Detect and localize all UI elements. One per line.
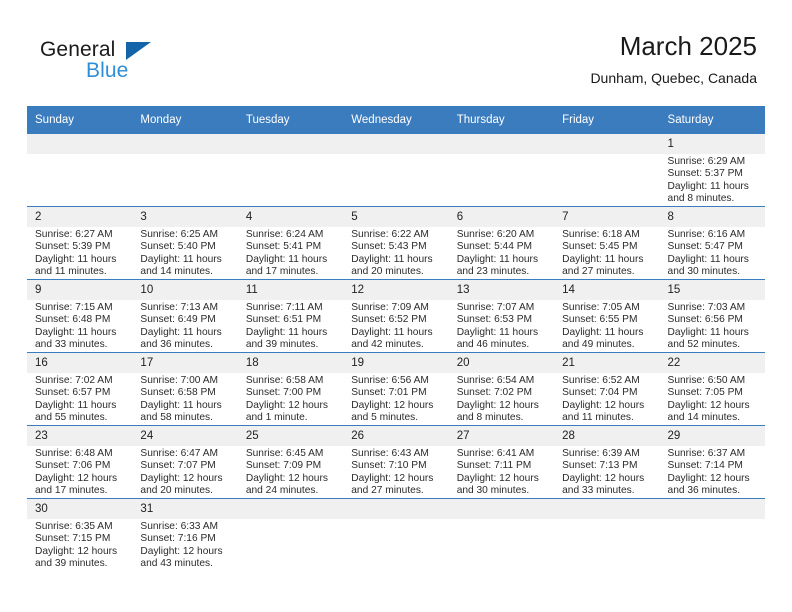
daylight-text-line2: and 24 minutes. (246, 485, 336, 497)
cell-inner: 12Sunrise: 7:09 AMSunset: 6:52 PMDayligh… (343, 280, 448, 352)
cell-inner (343, 134, 448, 206)
sunrise-text: Sunrise: 6:35 AM (35, 521, 125, 533)
sun-info: Sunrise: 7:09 AMSunset: 6:52 PMDaylight:… (343, 300, 448, 352)
calendar-day-cell[interactable]: 11Sunrise: 7:11 AMSunset: 6:51 PMDayligh… (238, 280, 343, 353)
cell-inner: 4Sunrise: 6:24 AMSunset: 5:41 PMDaylight… (238, 207, 343, 279)
sunset-text: Sunset: 7:14 PM (668, 460, 758, 472)
calendar-day-cell[interactable]: 10Sunrise: 7:13 AMSunset: 6:49 PMDayligh… (132, 280, 237, 353)
day-number (238, 499, 343, 519)
sunrise-text: Sunrise: 6:45 AM (246, 448, 336, 460)
sunrise-text: Sunrise: 6:16 AM (668, 229, 758, 241)
daylight-text-line2: and 30 minutes. (457, 485, 547, 497)
cell-inner: 2Sunrise: 6:27 AMSunset: 5:39 PMDaylight… (27, 207, 132, 279)
sunrise-sunset-calendar: Sunday Monday Tuesday Wednesday Thursday… (27, 106, 765, 571)
cell-inner: 3Sunrise: 6:25 AMSunset: 5:40 PMDaylight… (132, 207, 237, 279)
calendar-day-cell[interactable]: 17Sunrise: 7:00 AMSunset: 6:58 PMDayligh… (132, 353, 237, 426)
sunrise-text: Sunrise: 7:09 AM (351, 302, 441, 314)
calendar-week-row: 23Sunrise: 6:48 AMSunset: 7:06 PMDayligh… (27, 426, 765, 499)
daylight-text-line2: and 17 minutes. (35, 485, 125, 497)
calendar-day-cell[interactable]: 31Sunrise: 6:33 AMSunset: 7:16 PMDayligh… (132, 499, 237, 572)
calendar-day-cell[interactable]: 22Sunrise: 6:50 AMSunset: 7:05 PMDayligh… (660, 353, 765, 426)
sun-info: Sunrise: 7:15 AMSunset: 6:48 PMDaylight:… (27, 300, 132, 352)
daylight-text-line1: Daylight: 11 hours (140, 400, 230, 412)
calendar-day-cell[interactable]: 27Sunrise: 6:41 AMSunset: 7:11 PMDayligh… (449, 426, 554, 499)
calendar-cell-empty (132, 134, 237, 207)
calendar-cell-empty (27, 134, 132, 207)
sunrise-text: Sunrise: 6:48 AM (35, 448, 125, 460)
daylight-text-line1: Daylight: 12 hours (351, 473, 441, 485)
calendar-day-cell[interactable]: 15Sunrise: 7:03 AMSunset: 6:56 PMDayligh… (660, 280, 765, 353)
sunrise-text: Sunrise: 7:03 AM (668, 302, 758, 314)
cell-inner: 6Sunrise: 6:20 AMSunset: 5:44 PMDaylight… (449, 207, 554, 279)
day-number: 20 (449, 353, 554, 373)
page-subtitle: Dunham, Quebec, Canada (590, 68, 757, 88)
daylight-text-line2: and 11 minutes. (562, 412, 652, 424)
weekday-header-wednesday: Wednesday (343, 106, 448, 134)
day-number: 11 (238, 280, 343, 300)
daylight-text-line2: and 33 minutes. (562, 485, 652, 497)
daylight-text-line2: and 20 minutes. (140, 485, 230, 497)
sun-info: Sunrise: 6:16 AMSunset: 5:47 PMDaylight:… (660, 227, 765, 279)
daylight-text-line1: Daylight: 11 hours (351, 254, 441, 266)
sun-info: Sunrise: 7:07 AMSunset: 6:53 PMDaylight:… (449, 300, 554, 352)
sunrise-text: Sunrise: 6:39 AM (562, 448, 652, 460)
cell-inner: 7Sunrise: 6:18 AMSunset: 5:45 PMDaylight… (554, 207, 659, 279)
day-number (132, 134, 237, 154)
sun-info: Sunrise: 6:45 AMSunset: 7:09 PMDaylight:… (238, 446, 343, 498)
cell-inner: 19Sunrise: 6:56 AMSunset: 7:01 PMDayligh… (343, 353, 448, 425)
daylight-text-line2: and 27 minutes. (562, 266, 652, 278)
sunset-text: Sunset: 7:13 PM (562, 460, 652, 472)
daylight-text-line2: and 23 minutes. (457, 266, 547, 278)
daylight-text-line2: and 39 minutes. (246, 339, 336, 351)
sunrise-text: Sunrise: 7:13 AM (140, 302, 230, 314)
daylight-text-line1: Daylight: 12 hours (35, 546, 125, 558)
cell-inner (238, 499, 343, 571)
cell-inner (449, 134, 554, 206)
day-number: 24 (132, 426, 237, 446)
cell-inner (132, 134, 237, 206)
daylight-text-line2: and 33 minutes. (35, 339, 125, 351)
day-number: 9 (27, 280, 132, 300)
cell-inner: 5Sunrise: 6:22 AMSunset: 5:43 PMDaylight… (343, 207, 448, 279)
daylight-text-line1: Daylight: 11 hours (668, 327, 758, 339)
daylight-text-line2: and 27 minutes. (351, 485, 441, 497)
sunset-text: Sunset: 5:40 PM (140, 241, 230, 253)
daylight-text-line2: and 42 minutes. (351, 339, 441, 351)
sunset-text: Sunset: 7:00 PM (246, 387, 336, 399)
cell-inner (554, 499, 659, 571)
calendar-week-row: 9Sunrise: 7:15 AMSunset: 6:48 PMDaylight… (27, 280, 765, 353)
daylight-text-line2: and 30 minutes. (668, 266, 758, 278)
day-number: 26 (343, 426, 448, 446)
daylight-text-line1: Daylight: 11 hours (35, 327, 125, 339)
sun-info: Sunrise: 6:39 AMSunset: 7:13 PMDaylight:… (554, 446, 659, 498)
day-number: 23 (27, 426, 132, 446)
day-number: 1 (660, 134, 765, 154)
daylight-text-line2: and 49 minutes. (562, 339, 652, 351)
sunrise-text: Sunrise: 7:07 AM (457, 302, 547, 314)
cell-inner: 10Sunrise: 7:13 AMSunset: 6:49 PMDayligh… (132, 280, 237, 352)
sunrise-text: Sunrise: 6:43 AM (351, 448, 441, 460)
daylight-text-line1: Daylight: 12 hours (35, 473, 125, 485)
sun-info: Sunrise: 6:50 AMSunset: 7:05 PMDaylight:… (660, 373, 765, 425)
calendar-cell-empty (449, 499, 554, 572)
day-number: 29 (660, 426, 765, 446)
sun-info: Sunrise: 6:54 AMSunset: 7:02 PMDaylight:… (449, 373, 554, 425)
day-number: 19 (343, 353, 448, 373)
cell-inner (238, 134, 343, 206)
page-title: March 2025 (590, 30, 757, 62)
calendar-week-row: 16Sunrise: 7:02 AMSunset: 6:57 PMDayligh… (27, 353, 765, 426)
daylight-text-line2: and 1 minute. (246, 412, 336, 424)
sunset-text: Sunset: 5:39 PM (35, 241, 125, 253)
calendar-day-cell[interactable]: 2Sunrise: 6:27 AMSunset: 5:39 PMDaylight… (27, 207, 132, 280)
daylight-text-line2: and 39 minutes. (35, 558, 125, 570)
cell-inner: 28Sunrise: 6:39 AMSunset: 7:13 PMDayligh… (554, 426, 659, 498)
cell-inner: 22Sunrise: 6:50 AMSunset: 7:05 PMDayligh… (660, 353, 765, 425)
day-number: 16 (27, 353, 132, 373)
sunset-text: Sunset: 6:53 PM (457, 314, 547, 326)
sun-info: Sunrise: 7:13 AMSunset: 6:49 PMDaylight:… (132, 300, 237, 352)
sun-info: Sunrise: 6:24 AMSunset: 5:41 PMDaylight:… (238, 227, 343, 279)
sunset-text: Sunset: 7:07 PM (140, 460, 230, 472)
sunset-text: Sunset: 7:16 PM (140, 533, 230, 545)
day-number: 27 (449, 426, 554, 446)
sunset-text: Sunset: 6:48 PM (35, 314, 125, 326)
daylight-text-line1: Daylight: 11 hours (562, 254, 652, 266)
sunset-text: Sunset: 5:45 PM (562, 241, 652, 253)
day-number (554, 134, 659, 154)
day-number: 28 (554, 426, 659, 446)
daylight-text-line1: Daylight: 11 hours (140, 254, 230, 266)
day-number: 13 (449, 280, 554, 300)
daylight-text-line2: and 17 minutes. (246, 266, 336, 278)
cell-inner: 24Sunrise: 6:47 AMSunset: 7:07 PMDayligh… (132, 426, 237, 498)
sun-info: Sunrise: 6:22 AMSunset: 5:43 PMDaylight:… (343, 227, 448, 279)
day-number: 18 (238, 353, 343, 373)
sun-info: Sunrise: 6:37 AMSunset: 7:14 PMDaylight:… (660, 446, 765, 498)
sun-info: Sunrise: 7:03 AMSunset: 6:56 PMDaylight:… (660, 300, 765, 352)
sunset-text: Sunset: 5:47 PM (668, 241, 758, 253)
sunrise-text: Sunrise: 6:29 AM (668, 156, 758, 168)
daylight-text-line1: Daylight: 11 hours (668, 254, 758, 266)
sun-info: Sunrise: 6:43 AMSunset: 7:10 PMDaylight:… (343, 446, 448, 498)
cell-inner: 17Sunrise: 7:00 AMSunset: 6:58 PMDayligh… (132, 353, 237, 425)
sunrise-text: Sunrise: 7:05 AM (562, 302, 652, 314)
sunrise-text: Sunrise: 6:24 AM (246, 229, 336, 241)
weekday-header-friday: Friday (554, 106, 659, 134)
calendar-day-cell[interactable]: 7Sunrise: 6:18 AMSunset: 5:45 PMDaylight… (554, 207, 659, 280)
sunset-text: Sunset: 6:49 PM (140, 314, 230, 326)
cell-inner: 14Sunrise: 7:05 AMSunset: 6:55 PMDayligh… (554, 280, 659, 352)
sunset-text: Sunset: 7:15 PM (35, 533, 125, 545)
day-number: 5 (343, 207, 448, 227)
sunset-text: Sunset: 7:01 PM (351, 387, 441, 399)
sunrise-text: Sunrise: 6:52 AM (562, 375, 652, 387)
cell-inner (660, 499, 765, 571)
daylight-text-line1: Daylight: 12 hours (457, 473, 547, 485)
calendar-day-cell[interactable]: 3Sunrise: 6:25 AMSunset: 5:40 PMDaylight… (132, 207, 237, 280)
brand-logo[interactable]: General Blue (40, 38, 270, 88)
sun-info: Sunrise: 6:41 AMSunset: 7:11 PMDaylight:… (449, 446, 554, 498)
sunrise-text: Sunrise: 6:20 AM (457, 229, 547, 241)
daylight-text-line2: and 5 minutes. (351, 412, 441, 424)
sun-info: Sunrise: 6:56 AMSunset: 7:01 PMDaylight:… (343, 373, 448, 425)
daylight-text-line1: Daylight: 12 hours (351, 400, 441, 412)
day-number: 12 (343, 280, 448, 300)
daylight-text-line1: Daylight: 12 hours (562, 473, 652, 485)
calendar-day-cell[interactable]: 18Sunrise: 6:58 AMSunset: 7:00 PMDayligh… (238, 353, 343, 426)
daylight-text-line1: Daylight: 12 hours (457, 400, 547, 412)
sun-info: Sunrise: 6:20 AMSunset: 5:44 PMDaylight:… (449, 227, 554, 279)
daylight-text-line2: and 46 minutes. (457, 339, 547, 351)
calendar-day-cell[interactable]: 12Sunrise: 7:09 AMSunset: 6:52 PMDayligh… (343, 280, 448, 353)
cell-inner (27, 134, 132, 206)
calendar-day-cell[interactable]: 26Sunrise: 6:43 AMSunset: 7:10 PMDayligh… (343, 426, 448, 499)
sun-info: Sunrise: 6:25 AMSunset: 5:40 PMDaylight:… (132, 227, 237, 279)
calendar-day-cell[interactable]: 13Sunrise: 7:07 AMSunset: 6:53 PMDayligh… (449, 280, 554, 353)
cell-inner: 30Sunrise: 6:35 AMSunset: 7:15 PMDayligh… (27, 499, 132, 571)
weekday-header-row: Sunday Monday Tuesday Wednesday Thursday… (27, 106, 765, 134)
day-number: 7 (554, 207, 659, 227)
cell-inner: 31Sunrise: 6:33 AMSunset: 7:16 PMDayligh… (132, 499, 237, 571)
sun-info: Sunrise: 7:02 AMSunset: 6:57 PMDaylight:… (27, 373, 132, 425)
daylight-text-line1: Daylight: 11 hours (457, 327, 547, 339)
day-number (449, 134, 554, 154)
cell-inner: 11Sunrise: 7:11 AMSunset: 6:51 PMDayligh… (238, 280, 343, 352)
sunrise-text: Sunrise: 6:33 AM (140, 521, 230, 533)
cell-inner: 29Sunrise: 6:37 AMSunset: 7:14 PMDayligh… (660, 426, 765, 498)
calendar-cell-empty (238, 499, 343, 572)
calendar-day-cell[interactable]: 29Sunrise: 6:37 AMSunset: 7:14 PMDayligh… (660, 426, 765, 499)
sunrise-text: Sunrise: 6:50 AM (668, 375, 758, 387)
sunset-text: Sunset: 7:04 PM (562, 387, 652, 399)
daylight-text-line2: and 36 minutes. (668, 485, 758, 497)
sun-info: Sunrise: 7:05 AMSunset: 6:55 PMDaylight:… (554, 300, 659, 352)
sunset-text: Sunset: 6:51 PM (246, 314, 336, 326)
calendar-week-row: 30Sunrise: 6:35 AMSunset: 7:15 PMDayligh… (27, 499, 765, 572)
calendar-cell-empty (449, 134, 554, 207)
calendar-week-row: 1Sunrise: 6:29 AMSunset: 5:37 PMDaylight… (27, 134, 765, 207)
daylight-text-line1: Daylight: 12 hours (246, 400, 336, 412)
calendar-cell-empty (554, 499, 659, 572)
sun-info: Sunrise: 6:27 AMSunset: 5:39 PMDaylight:… (27, 227, 132, 279)
calendar-day-cell[interactable]: 20Sunrise: 6:54 AMSunset: 7:02 PMDayligh… (449, 353, 554, 426)
sunset-text: Sunset: 7:11 PM (457, 460, 547, 472)
sunset-text: Sunset: 5:44 PM (457, 241, 547, 253)
sunset-text: Sunset: 7:06 PM (35, 460, 125, 472)
cell-inner (343, 499, 448, 571)
daylight-text-line2: and 14 minutes. (140, 266, 230, 278)
calendar-day-cell[interactable]: 14Sunrise: 7:05 AMSunset: 6:55 PMDayligh… (554, 280, 659, 353)
sunset-text: Sunset: 5:41 PM (246, 241, 336, 253)
sunset-text: Sunset: 5:43 PM (351, 241, 441, 253)
calendar-day-cell[interactable]: 28Sunrise: 6:39 AMSunset: 7:13 PMDayligh… (554, 426, 659, 499)
sunset-text: Sunset: 7:05 PM (668, 387, 758, 399)
sun-info: Sunrise: 6:33 AMSunset: 7:16 PMDaylight:… (132, 519, 237, 571)
sunrise-text: Sunrise: 7:11 AM (246, 302, 336, 314)
sunset-text: Sunset: 6:58 PM (140, 387, 230, 399)
sunset-text: Sunset: 6:56 PM (668, 314, 758, 326)
sunrise-text: Sunrise: 6:58 AM (246, 375, 336, 387)
calendar-day-cell[interactable]: 25Sunrise: 6:45 AMSunset: 7:09 PMDayligh… (238, 426, 343, 499)
daylight-text-line1: Daylight: 11 hours (351, 327, 441, 339)
calendar-cell-empty (343, 134, 448, 207)
calendar-day-cell[interactable]: 30Sunrise: 6:35 AMSunset: 7:15 PMDayligh… (27, 499, 132, 572)
cell-inner: 26Sunrise: 6:43 AMSunset: 7:10 PMDayligh… (343, 426, 448, 498)
daylight-text-line2: and 8 minutes. (457, 412, 547, 424)
sunrise-text: Sunrise: 7:15 AM (35, 302, 125, 314)
sunset-text: Sunset: 5:37 PM (668, 168, 758, 180)
calendar-day-cell[interactable]: 19Sunrise: 6:56 AMSunset: 7:01 PMDayligh… (343, 353, 448, 426)
cell-inner: 8Sunrise: 6:16 AMSunset: 5:47 PMDaylight… (660, 207, 765, 279)
calendar-day-cell[interactable]: 9Sunrise: 7:15 AMSunset: 6:48 PMDaylight… (27, 280, 132, 353)
calendar-head: Sunday Monday Tuesday Wednesday Thursday… (27, 106, 765, 134)
sunrise-text: Sunrise: 6:25 AM (140, 229, 230, 241)
calendar-page: General Blue March 2025 Dunham, Quebec, … (0, 0, 792, 612)
calendar-body: 1Sunrise: 6:29 AMSunset: 5:37 PMDaylight… (27, 134, 765, 571)
calendar-day-cell[interactable]: 6Sunrise: 6:20 AMSunset: 5:44 PMDaylight… (449, 207, 554, 280)
cell-inner: 18Sunrise: 6:58 AMSunset: 7:00 PMDayligh… (238, 353, 343, 425)
day-number: 6 (449, 207, 554, 227)
daylight-text-line1: Daylight: 11 hours (35, 254, 125, 266)
day-number: 3 (132, 207, 237, 227)
daylight-text-line1: Daylight: 12 hours (562, 400, 652, 412)
day-number: 31 (132, 499, 237, 519)
weekday-header-monday: Monday (132, 106, 237, 134)
title-block: March 2025 Dunham, Quebec, Canada (590, 30, 757, 88)
day-number: 25 (238, 426, 343, 446)
calendar-day-cell[interactable]: 16Sunrise: 7:02 AMSunset: 6:57 PMDayligh… (27, 353, 132, 426)
calendar-week-row: 2Sunrise: 6:27 AMSunset: 5:39 PMDaylight… (27, 207, 765, 280)
sunset-text: Sunset: 7:10 PM (351, 460, 441, 472)
day-number: 10 (132, 280, 237, 300)
daylight-text-line2: and 20 minutes. (351, 266, 441, 278)
weekday-header-saturday: Saturday (660, 106, 765, 134)
sun-info: Sunrise: 6:58 AMSunset: 7:00 PMDaylight:… (238, 373, 343, 425)
sun-info: Sunrise: 6:35 AMSunset: 7:15 PMDaylight:… (27, 519, 132, 571)
sunrise-text: Sunrise: 6:47 AM (140, 448, 230, 460)
day-number: 2 (27, 207, 132, 227)
day-number (238, 134, 343, 154)
day-number: 21 (554, 353, 659, 373)
daylight-text-line2: and 43 minutes. (140, 558, 230, 570)
sunrise-text: Sunrise: 6:27 AM (35, 229, 125, 241)
daylight-text-line2: and 36 minutes. (140, 339, 230, 351)
cell-inner: 15Sunrise: 7:03 AMSunset: 6:56 PMDayligh… (660, 280, 765, 352)
daylight-text-line2: and 58 minutes. (140, 412, 230, 424)
day-number: 14 (554, 280, 659, 300)
brand-triangle-icon (126, 42, 151, 60)
cell-inner: 16Sunrise: 7:02 AMSunset: 6:57 PMDayligh… (27, 353, 132, 425)
calendar-cell-empty (238, 134, 343, 207)
daylight-text-line1: Daylight: 11 hours (562, 327, 652, 339)
cell-inner: 20Sunrise: 6:54 AMSunset: 7:02 PMDayligh… (449, 353, 554, 425)
sunrise-text: Sunrise: 6:18 AM (562, 229, 652, 241)
sun-info: Sunrise: 7:11 AMSunset: 6:51 PMDaylight:… (238, 300, 343, 352)
daylight-text-line1: Daylight: 11 hours (457, 254, 547, 266)
daylight-text-line2: and 55 minutes. (35, 412, 125, 424)
weekday-header-tuesday: Tuesday (238, 106, 343, 134)
day-number (449, 499, 554, 519)
sunset-text: Sunset: 6:57 PM (35, 387, 125, 399)
calendar-day-cell[interactable]: 23Sunrise: 6:48 AMSunset: 7:06 PMDayligh… (27, 426, 132, 499)
day-number (343, 134, 448, 154)
calendar-day-cell[interactable]: 21Sunrise: 6:52 AMSunset: 7:04 PMDayligh… (554, 353, 659, 426)
daylight-text-line1: Daylight: 11 hours (140, 327, 230, 339)
sun-info: Sunrise: 6:18 AMSunset: 5:45 PMDaylight:… (554, 227, 659, 279)
day-number (27, 134, 132, 154)
daylight-text-line2: and 14 minutes. (668, 412, 758, 424)
daylight-text-line1: Daylight: 11 hours (668, 181, 758, 193)
cell-inner: 13Sunrise: 7:07 AMSunset: 6:53 PMDayligh… (449, 280, 554, 352)
calendar-day-cell[interactable]: 1Sunrise: 6:29 AMSunset: 5:37 PMDaylight… (660, 134, 765, 207)
calendar-day-cell[interactable]: 4Sunrise: 6:24 AMSunset: 5:41 PMDaylight… (238, 207, 343, 280)
sunset-text: Sunset: 6:55 PM (562, 314, 652, 326)
calendar-day-cell[interactable]: 8Sunrise: 6:16 AMSunset: 5:47 PMDaylight… (660, 207, 765, 280)
day-number: 8 (660, 207, 765, 227)
daylight-text-line1: Daylight: 12 hours (140, 473, 230, 485)
brand-name-blue: Blue (86, 59, 128, 83)
page-header: General Blue March 2025 Dunham, Quebec, … (0, 0, 792, 100)
day-number: 17 (132, 353, 237, 373)
sun-info: Sunrise: 7:00 AMSunset: 6:58 PMDaylight:… (132, 373, 237, 425)
daylight-text-line2: and 52 minutes. (668, 339, 758, 351)
day-number: 30 (27, 499, 132, 519)
sun-info: Sunrise: 6:52 AMSunset: 7:04 PMDaylight:… (554, 373, 659, 425)
sunrise-text: Sunrise: 6:54 AM (457, 375, 547, 387)
day-number (660, 499, 765, 519)
daylight-text-line1: Daylight: 12 hours (668, 473, 758, 485)
weekday-header-thursday: Thursday (449, 106, 554, 134)
daylight-text-line1: Daylight: 12 hours (246, 473, 336, 485)
daylight-text-line1: Daylight: 11 hours (246, 254, 336, 266)
daylight-text-line1: Daylight: 12 hours (668, 400, 758, 412)
sunrise-text: Sunrise: 7:02 AM (35, 375, 125, 387)
sunrise-text: Sunrise: 7:00 AM (140, 375, 230, 387)
sunset-text: Sunset: 7:02 PM (457, 387, 547, 399)
day-number: 4 (238, 207, 343, 227)
daylight-text-line2: and 11 minutes. (35, 266, 125, 278)
cell-inner: 27Sunrise: 6:41 AMSunset: 7:11 PMDayligh… (449, 426, 554, 498)
sunset-text: Sunset: 7:09 PM (246, 460, 336, 472)
day-number: 22 (660, 353, 765, 373)
calendar-day-cell[interactable]: 5Sunrise: 6:22 AMSunset: 5:43 PMDaylight… (343, 207, 448, 280)
calendar-cell-empty (554, 134, 659, 207)
weekday-header-sunday: Sunday (27, 106, 132, 134)
sun-info: Sunrise: 6:47 AMSunset: 7:07 PMDaylight:… (132, 446, 237, 498)
calendar-cell-empty (343, 499, 448, 572)
sun-info: Sunrise: 6:29 AMSunset: 5:37 PMDaylight:… (660, 154, 765, 206)
cell-inner: 25Sunrise: 6:45 AMSunset: 7:09 PMDayligh… (238, 426, 343, 498)
sunrise-text: Sunrise: 6:56 AM (351, 375, 441, 387)
day-number (554, 499, 659, 519)
daylight-text-line1: Daylight: 11 hours (246, 327, 336, 339)
sunrise-text: Sunrise: 6:22 AM (351, 229, 441, 241)
daylight-text-line1: Daylight: 11 hours (35, 400, 125, 412)
sun-info: Sunrise: 6:48 AMSunset: 7:06 PMDaylight:… (27, 446, 132, 498)
day-number (343, 499, 448, 519)
sunrise-text: Sunrise: 6:41 AM (457, 448, 547, 460)
cell-inner: 1Sunrise: 6:29 AMSunset: 5:37 PMDaylight… (660, 134, 765, 206)
cell-inner: 21Sunrise: 6:52 AMSunset: 7:04 PMDayligh… (554, 353, 659, 425)
daylight-text-line2: and 8 minutes. (668, 193, 758, 205)
calendar-day-cell[interactable]: 24Sunrise: 6:47 AMSunset: 7:07 PMDayligh… (132, 426, 237, 499)
daylight-text-line1: Daylight: 12 hours (140, 546, 230, 558)
calendar-cell-empty (660, 499, 765, 572)
sunrise-text: Sunrise: 6:37 AM (668, 448, 758, 460)
